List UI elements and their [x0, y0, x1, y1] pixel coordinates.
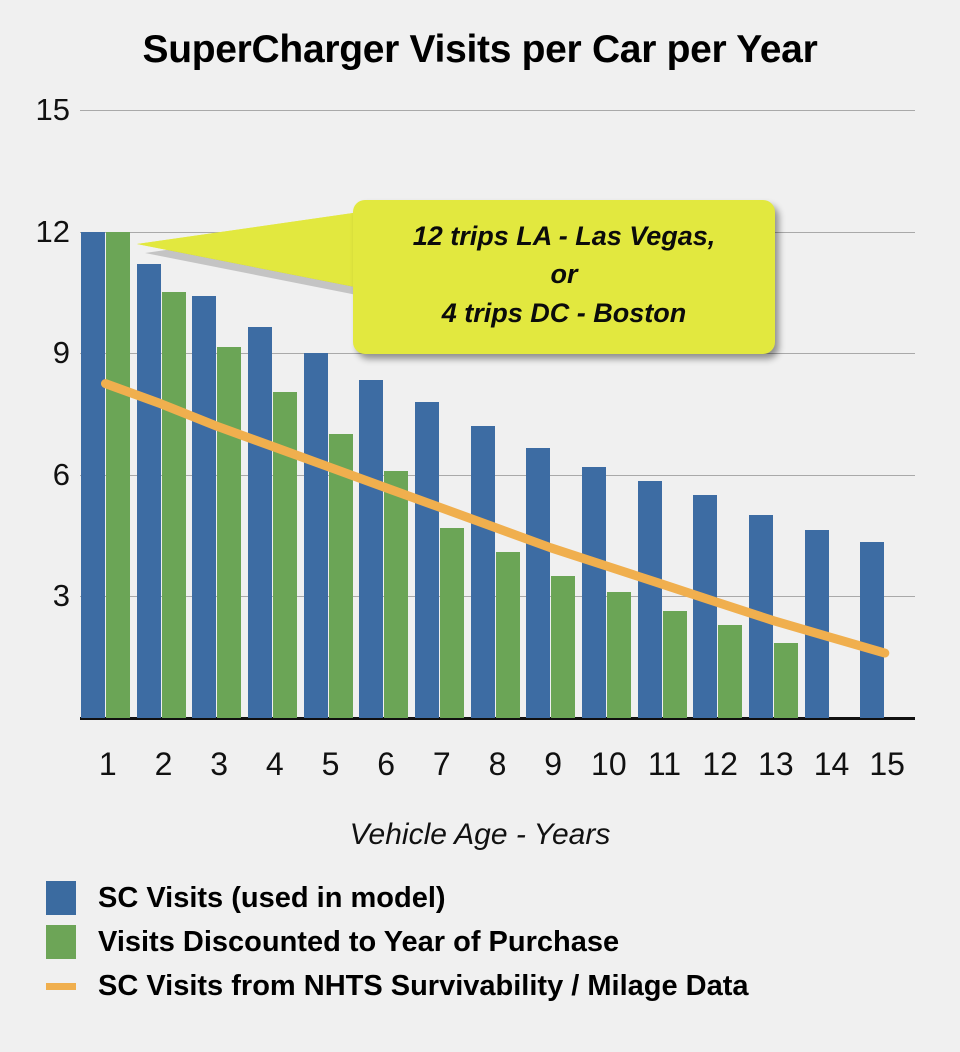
annotation-callout-text: 12 trips LA - Las Vegas, or 4 trips DC -… — [353, 217, 775, 332]
chart-root: SuperCharger Visits per Car per Year 369… — [0, 0, 960, 1052]
callout-pointer — [0, 0, 960, 1052]
annotation-callout: 12 trips LA - Las Vegas, or 4 trips DC -… — [353, 200, 775, 354]
